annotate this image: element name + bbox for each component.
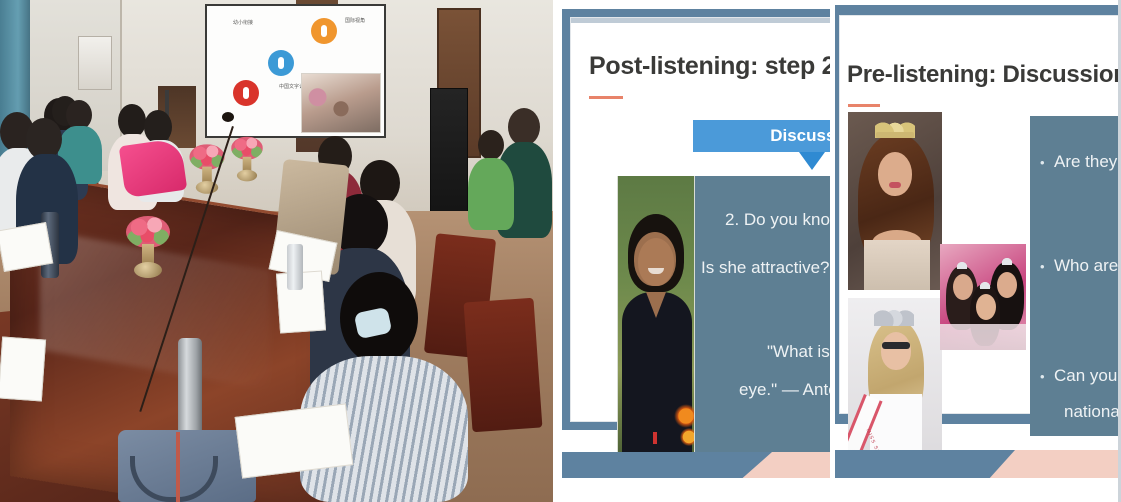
title-accent-rule: [848, 104, 880, 107]
bullet-dot-icon: •: [1040, 259, 1054, 274]
slide-title: Post-listening: step 2: [589, 52, 835, 81]
face-highlight: [638, 238, 674, 286]
face: [997, 272, 1017, 298]
icon-glyph: [243, 87, 249, 99]
slide-bullet-wrap: nationalit: [1064, 402, 1121, 422]
bullet-text: Who are t: [1054, 256, 1121, 275]
discussion-banner: Discusso: [693, 120, 843, 152]
wall-ac-unit: [78, 36, 112, 90]
orange-flower: [680, 428, 695, 446]
bottom-bar-blue: [562, 452, 772, 478]
flower-vase: [126, 216, 170, 278]
bullet-dot-icon: •: [1040, 369, 1054, 384]
slide-text-line: Is she attractive?: [701, 258, 830, 278]
face: [881, 332, 911, 370]
slide-title: Pre-listening: Discussion quest: [847, 61, 1121, 89]
slide-photo-pageant-trio: [940, 244, 1026, 350]
document-papers: [0, 222, 53, 272]
crown-icon: [874, 304, 914, 326]
projected-text-1: 幼小衔接: [233, 20, 287, 27]
document-papers: [0, 337, 46, 402]
icon-glyph: [278, 57, 284, 69]
slide-icon-red: [233, 80, 259, 106]
slide-frame: Post-listening: step 2 Discusso: [562, 9, 843, 430]
slide-panel-post-listening: Post-listening: step 2 Discusso: [553, 0, 843, 502]
title-accent-rule: [589, 96, 623, 99]
floor-speaker: [430, 88, 468, 218]
slide-text-line: 2. Do you know he: [725, 210, 843, 230]
bottom-bar-blue: [835, 450, 1015, 478]
tiara-icon: [953, 260, 971, 269]
handbag-stripe: [176, 432, 180, 502]
slide-bottom-bar: [835, 450, 1121, 478]
composite-figure: 幼小衔接 国际视角 中国文字认知: [0, 0, 1121, 502]
projected-inset-photo: [301, 73, 381, 133]
slide-photo-pageant-blonde: MISS SUPRANATIONAL: [848, 298, 942, 466]
slide-icon-orange: [311, 18, 337, 44]
icon-glyph: [321, 25, 327, 37]
slide-canvas: Pre-listening: Discussion quest: [839, 15, 1121, 414]
tiara-icon: [976, 280, 994, 289]
crown-base: [876, 132, 914, 138]
microphone-head: [222, 112, 234, 122]
slide-photo-woman: [617, 176, 695, 454]
projected-text-2: 国际视角: [345, 18, 386, 25]
slide-bullet-box: •Are they •Who are t •Can you g national…: [1030, 116, 1121, 436]
bullet-dot-icon: •: [1040, 155, 1054, 170]
flower-vase: [231, 137, 263, 182]
torso: [622, 292, 692, 454]
face: [953, 274, 973, 300]
slide-top-band: [571, 18, 843, 23]
dress: [864, 240, 930, 290]
face: [976, 294, 996, 320]
tiara-icon: [998, 256, 1016, 265]
conference-room-photo: 幼小衔接 国际视角 中国文字认知: [0, 0, 553, 502]
slide-canvas: Post-listening: step 2 Discusso: [570, 17, 843, 422]
slide-quote-attribution: eye." — Antoi: [739, 380, 841, 400]
lips: [889, 182, 901, 188]
slide-bottom-bar: [562, 452, 843, 478]
dresses: [940, 324, 1026, 350]
water-bottle: [287, 244, 303, 290]
chair: [464, 298, 543, 433]
slide-textbox: 2. Do you know he Is she attractive? "Wh…: [695, 176, 843, 454]
orange-flower: [674, 404, 695, 428]
slide-photo-pageant-brunette: [848, 112, 942, 290]
bullet-text: Can you g: [1054, 366, 1121, 385]
slide-bullet-item: •Who are t: [1040, 256, 1121, 276]
slide-frame: Pre-listening: Discussion quest: [835, 5, 1121, 424]
slide-bullet-item: •Can you g: [1040, 366, 1121, 386]
face: [878, 152, 912, 196]
slide-bullet-item: •Are they: [1040, 152, 1117, 172]
lapel-badge: [653, 432, 657, 444]
sunglasses-icon: [882, 342, 910, 349]
slide-panel-pre-listening: Pre-listening: Discussion quest: [835, 0, 1121, 502]
down-arrow-icon: [799, 152, 825, 170]
slide-icon-blue: [268, 50, 294, 76]
bullet-text: Are they: [1054, 152, 1117, 171]
